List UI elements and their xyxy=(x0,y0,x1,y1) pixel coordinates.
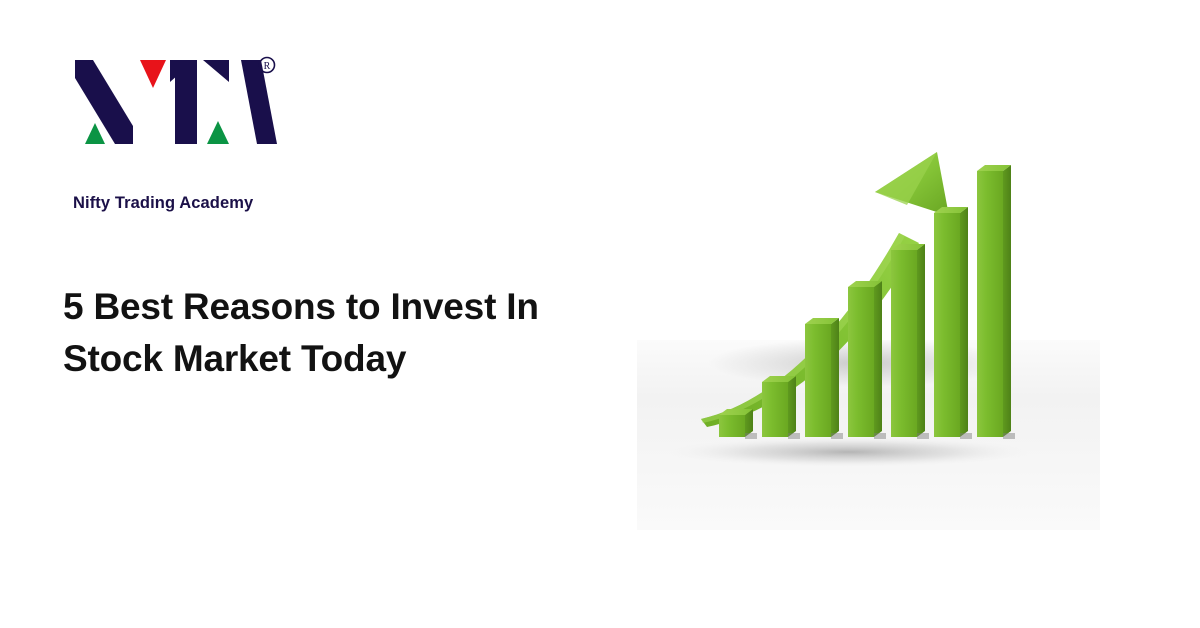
page-title: 5 Best Reasons to Invest In Stock Market… xyxy=(63,281,603,385)
svg-text:R: R xyxy=(264,61,271,72)
chart-plot-area xyxy=(637,115,1100,530)
page-canvas: R Nifty Trading Academy 5 Best Reasons t… xyxy=(0,0,1200,628)
bar-7 xyxy=(977,165,1011,437)
nta-logo-icon: R xyxy=(71,52,281,144)
page-title-line-2: Stock Market Today xyxy=(63,333,603,385)
growth-bar-chart-image xyxy=(637,115,1100,530)
bar-3 xyxy=(805,318,839,437)
bar-2 xyxy=(762,376,796,437)
page-title-line-1: 5 Best Reasons to Invest In xyxy=(63,281,603,333)
bar-4 xyxy=(848,281,882,437)
bar-5 xyxy=(891,244,925,437)
bar-1 xyxy=(719,409,753,437)
brand-logo-block[interactable]: R Nifty Trading Academy xyxy=(63,48,323,183)
brand-name-text: Nifty Trading Academy xyxy=(73,194,253,213)
bar-6 xyxy=(934,207,968,437)
